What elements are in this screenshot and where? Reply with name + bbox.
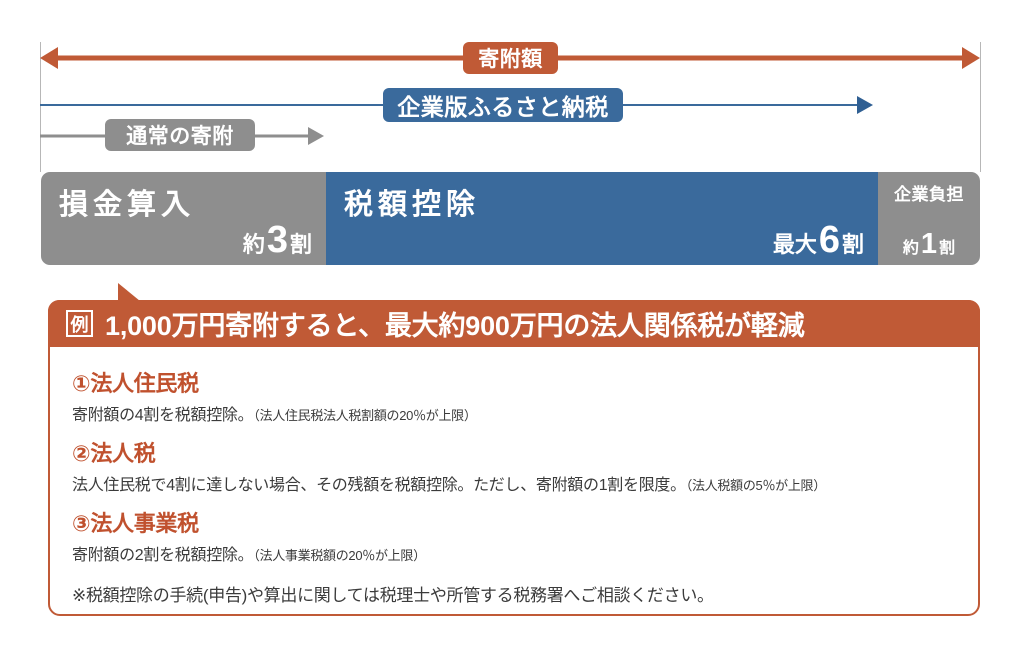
- value-prefix: 約: [243, 227, 265, 259]
- bar-segment-tax-credit: 税額控除 最大 6 割: [326, 172, 878, 265]
- label-donation-total: 寄附額: [463, 42, 558, 74]
- bar-segment-title: 損金算入: [59, 181, 195, 223]
- example-card: 例 1,000万円寄附すると、最大約900万円の法人関係税が軽減 ①法人住民税 …: [48, 300, 980, 616]
- bar-segment-title: 税額控除: [344, 181, 480, 223]
- bar-segment-company-burden: 企業負担 約 1 割: [878, 172, 980, 265]
- tax-item-desc-main: 法人住民税で4割に達しない場合、その残額を税額控除。ただし、寄附額の1割を限度。: [72, 477, 686, 494]
- tax-item-desc-main: 寄附額の2割を税額控除。: [72, 547, 253, 564]
- bar-segment-value: 約 3 割: [243, 221, 312, 259]
- bar-segment-value: 約 1 割: [878, 230, 980, 259]
- example-badge: 例: [66, 310, 93, 337]
- arrow-head-left-icon: [40, 47, 58, 69]
- tax-item: ①法人住民税 寄附額の4割を税額控除。（法人住民税法人税割額の20％が上限）: [72, 366, 954, 425]
- tax-item-desc-note: （法人事業税額の20％が上限）: [253, 548, 425, 563]
- tax-item-description: 法人住民税で4割に達しない場合、その残額を税額控除。ただし、寄附額の1割を限度。…: [72, 471, 954, 495]
- example-headline: 1,000万円寄附すると、最大約900万円の法人関係税が軽減: [105, 304, 805, 343]
- infographic-root: 寄附額 企業版ふるさと納税 通常の寄附 損金算入 約 3 割 税額控除 最大 6: [0, 0, 1024, 649]
- label-corporate-donation: 企業版ふるさと納税: [383, 88, 623, 122]
- callout-pointer-icon: [118, 283, 140, 301]
- bar-segment-title: 企業負担: [878, 180, 980, 205]
- value-prefix: 最大: [773, 227, 817, 259]
- label-normal-donation: 通常の寄附: [105, 119, 255, 151]
- tax-item-title: ①法人住民税: [72, 366, 954, 398]
- value-number: 6: [817, 221, 842, 259]
- tax-item-description: 寄附額の2割を税額控除。（法人事業税額の20％が上限）: [72, 541, 954, 565]
- guide-line-right: [980, 42, 981, 172]
- value-prefix: 約: [903, 234, 919, 258]
- tax-item-desc-main: 寄附額の4割を税額控除。: [72, 407, 253, 424]
- bar-segment-value: 最大 6 割: [773, 221, 864, 259]
- tax-item-title: ③法人事業税: [72, 506, 954, 538]
- value-suffix: 割: [939, 234, 955, 258]
- value-number: 3: [265, 221, 290, 259]
- value-number: 1: [919, 230, 939, 259]
- tax-item-title: ②法人税: [72, 436, 954, 468]
- tax-item-description: 寄附額の4割を税額控除。（法人住民税法人税割額の20％が上限）: [72, 401, 954, 425]
- arrow-head-right-icon: [857, 96, 873, 114]
- arrow-head-right-icon: [308, 127, 324, 145]
- tax-item: ③法人事業税 寄附額の2割を税額控除。（法人事業税額の20％が上限）: [72, 506, 954, 565]
- bar-segment-loss-inclusion: 損金算入 約 3 割: [41, 172, 326, 265]
- arrow-head-right-icon: [962, 47, 980, 69]
- tax-item-desc-note: （法人住民税法人税割額の20％が上限）: [253, 408, 476, 423]
- tax-item: ②法人税 法人住民税で4割に達しない場合、その残額を税額控除。ただし、寄附額の1…: [72, 436, 954, 495]
- value-suffix: 割: [290, 227, 312, 259]
- value-suffix: 割: [842, 227, 864, 259]
- example-card-body: ①法人住民税 寄附額の4割を税額控除。（法人住民税法人税割額の20％が上限） ②…: [50, 349, 978, 606]
- example-card-banner: 例 1,000万円寄附すると、最大約900万円の法人関係税が軽減: [48, 300, 980, 347]
- tax-item-desc-note: （法人税額の5％が上限）: [686, 478, 826, 493]
- tax-breakdown-bar: 損金算入 約 3 割 税額控除 最大 6 割 企業負担 約 1 割: [41, 172, 980, 265]
- advisory-note: ※税額控除の手続(申告)や算出に関しては税理士や所管する税務署へご相談ください。: [72, 581, 954, 606]
